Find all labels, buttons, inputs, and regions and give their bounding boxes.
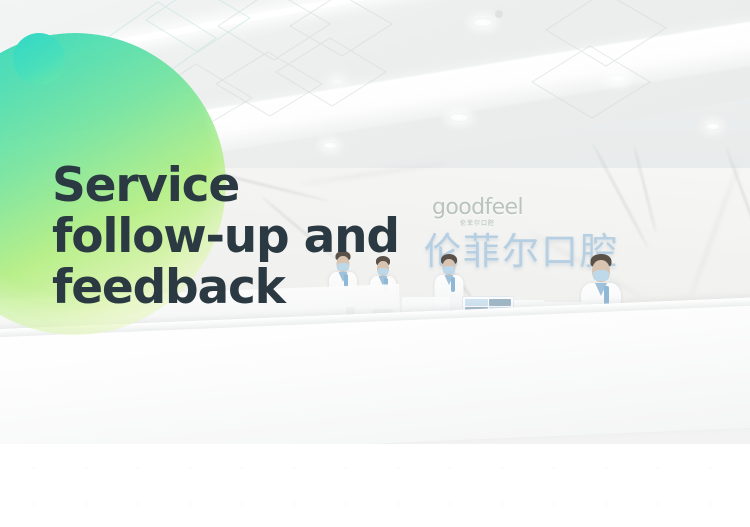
gradient-accent-circle [13, 33, 65, 85]
downlight-icon [606, 74, 628, 83]
smoke-detector-icon [495, 10, 503, 18]
brand-logo-goodfeel: goodfeel 伦菲尔口腔 [432, 197, 523, 227]
product-tile [465, 299, 488, 306]
downlight-icon [448, 113, 470, 122]
neck-scarf [451, 277, 455, 292]
downlight-icon [705, 123, 721, 130]
clinic-reception-photo: goodfeel 伦菲尔口腔 伦菲尔口腔 锆 [0, 0, 750, 444]
brand-logo-subtext: 伦菲尔口腔 [432, 221, 523, 227]
service-followup-banner: goodfeel 伦菲尔口腔 伦菲尔口腔 锆 [0, 0, 750, 527]
downlight-icon [322, 142, 338, 149]
page-title: Service follow-up and feedback [52, 160, 399, 313]
downlight-icon [330, 78, 345, 85]
face-mask-icon [443, 266, 455, 274]
downlight-icon [472, 18, 494, 27]
product-tile [489, 299, 512, 306]
brand-logo-wordmark: goodfeel [432, 197, 523, 219]
marble-vein [688, 159, 742, 301]
footer-dot-field [0, 444, 750, 527]
face-mask-icon [593, 270, 609, 281]
